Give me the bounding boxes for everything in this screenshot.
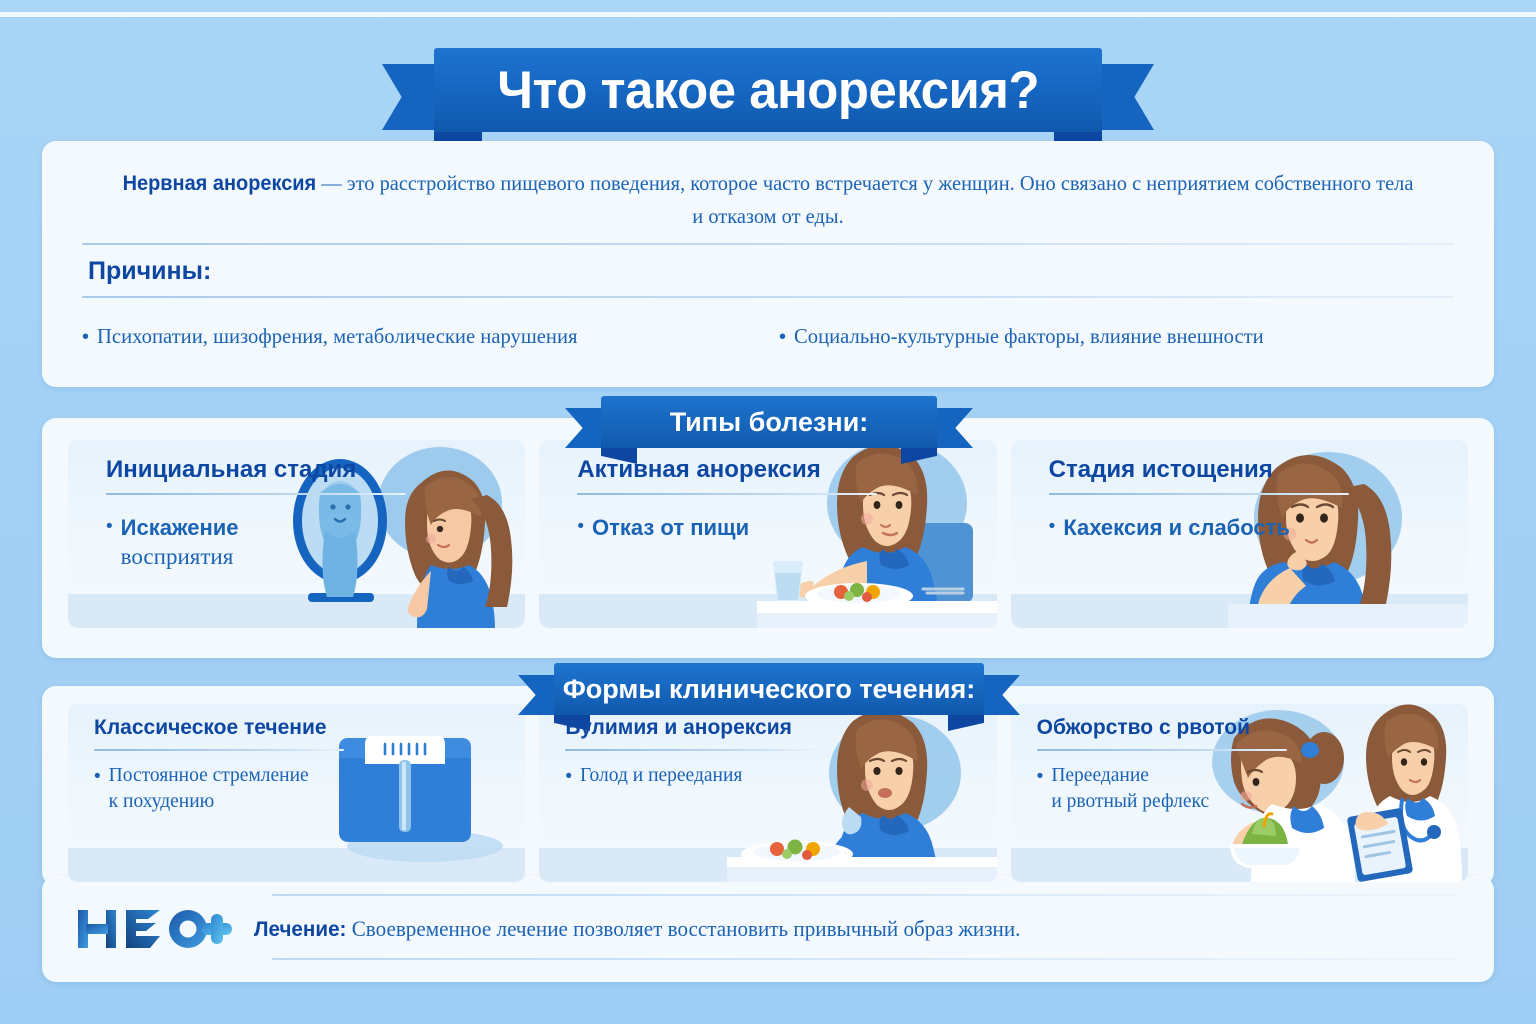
form-card-binge-vomit[interactable]: Обжорство с рвотой • Переедание и рвотны… <box>1011 704 1468 882</box>
card-bottom-band <box>68 848 525 882</box>
bullet-icon: • <box>779 326 786 349</box>
form-card-bulimia[interactable]: Булимия и анорексия • Голод и переедания <box>539 704 996 882</box>
title-ribbon-body: Что такое анорексия? <box>434 48 1102 132</box>
form-card-2-bullet: • Голод и переедания <box>539 751 996 791</box>
type-card-3-bullet: • Кахексия и слабость <box>1011 495 1468 542</box>
types-ribbon-label: Типы болезни: <box>670 407 869 438</box>
type-card-2-line1: Отказ от пищи <box>592 513 749 542</box>
card-bottom-band <box>1011 594 1468 628</box>
type-card-3-heading: Стадия истощения <box>1011 440 1468 484</box>
bullet-icon: • <box>82 326 89 349</box>
types-card-list: Инициальная стадия • Искажение восприяти… <box>68 440 1468 628</box>
type-card-1-line2: восприятия <box>121 542 239 571</box>
types-panel: Инициальная стадия • Искажение восприяти… <box>42 418 1494 658</box>
types-ribbon-body: Типы болезни: <box>601 396 937 448</box>
treatment-text: Лечение: Своевременное лечение позволяет… <box>254 916 1020 942</box>
intro-term: Нервная анорексия <box>123 172 317 195</box>
form-card-2-heading-sub: и анорексия <box>659 716 792 739</box>
bullet-icon: • <box>106 513 113 541</box>
treatment-label: Лечение: <box>254 917 346 941</box>
forms-section-ribbon: Формы клинического течения: <box>518 663 1020 719</box>
form-card-classic[interactable]: Классическое течение • Постоянное стремл… <box>68 704 525 882</box>
type-card-2-bullet: • Отказ от пищи <box>539 495 996 542</box>
forms-card-list: Классическое течение • Постоянное стремл… <box>68 704 1468 882</box>
page-title: Что такое анорексия? <box>497 60 1039 121</box>
forms-ribbon-body: Формы клинического течения: <box>554 663 984 715</box>
form-card-3-line1: Переедание <box>1051 763 1209 789</box>
intro-divider-1 <box>82 243 1454 245</box>
cause-item-2: • Социально-культурные факторы, влияние … <box>757 324 1454 349</box>
form-card-1-heading: Классическое течение <box>68 704 525 740</box>
card-bottom-band <box>539 848 996 882</box>
form-card-1-bullet: • Постоянное стремление к похудению <box>68 751 525 815</box>
card-bottom-band <box>68 594 525 628</box>
top-divider-rule <box>0 12 1536 17</box>
type-card-active-anorexia[interactable]: Активная анорексия • Отказ от пищи <box>539 440 996 628</box>
type-card-1-line1: Искажение <box>121 513 239 542</box>
type-card-initial-stage[interactable]: Инициальная стадия • Искажение восприяти… <box>68 440 525 628</box>
treatment-body: Своевременное лечение позволяет восстано… <box>346 916 1020 941</box>
intro-divider-2 <box>82 296 1454 298</box>
causes-list: • Психопатии, шизофрения, метаболические… <box>82 324 1454 349</box>
title-banner: Что такое анорексия? <box>0 42 1536 147</box>
intro-text: Нервная анорексия — это расстройство пищ… <box>116 167 1419 233</box>
types-section-ribbon: Типы болезни: <box>565 396 973 452</box>
type-card-3-line1: Кахексия и слабость <box>1063 513 1290 542</box>
intro-body: — это расстройство пищевого поведения, к… <box>316 171 1413 228</box>
cause-item-2-label: Социально-культурные факторы, влияние вн… <box>794 324 1264 349</box>
card-bottom-band <box>1011 848 1468 882</box>
form-card-3-bullet: • Переедание и рвотный рефлекс <box>1011 751 1468 815</box>
form-card-3-line2: и рвотный рефлекс <box>1051 789 1209 815</box>
card-bottom-band <box>539 594 996 628</box>
form-card-2-line1: Голод и переедания <box>580 763 742 789</box>
causes-heading: Причины: <box>88 257 1454 286</box>
type-card-1-heading: Инициальная стадия <box>68 440 525 484</box>
form-card-1-line1: Постоянное стремление <box>109 763 309 789</box>
type-card-exhaustion-stage[interactable]: Стадия истощения • Кахексия и слабость <box>1011 440 1468 628</box>
form-card-1-line2: к похудению <box>109 789 309 815</box>
cause-item-1: • Психопатии, шизофрения, метаболические… <box>82 324 757 349</box>
footer-panel: Лечение: Своевременное лечение позволяет… <box>42 876 1494 982</box>
bullet-icon: • <box>577 513 584 541</box>
bullet-icon: • <box>1037 763 1044 791</box>
type-card-1-bullet: • Искажение восприятия <box>68 495 525 571</box>
bullet-icon: • <box>94 763 101 791</box>
neo-plus-logo[interactable] <box>76 904 232 954</box>
cause-item-1-label: Психопатии, шизофрения, метаболические н… <box>97 324 577 349</box>
bullet-icon: • <box>565 763 572 791</box>
forms-ribbon-label: Формы клинического течения: <box>563 674 976 705</box>
intro-panel: Нервная анорексия — это расстройство пищ… <box>42 141 1494 387</box>
bullet-icon: • <box>1049 513 1056 541</box>
form-card-3-heading: Обжорство с рвотой <box>1011 704 1468 740</box>
